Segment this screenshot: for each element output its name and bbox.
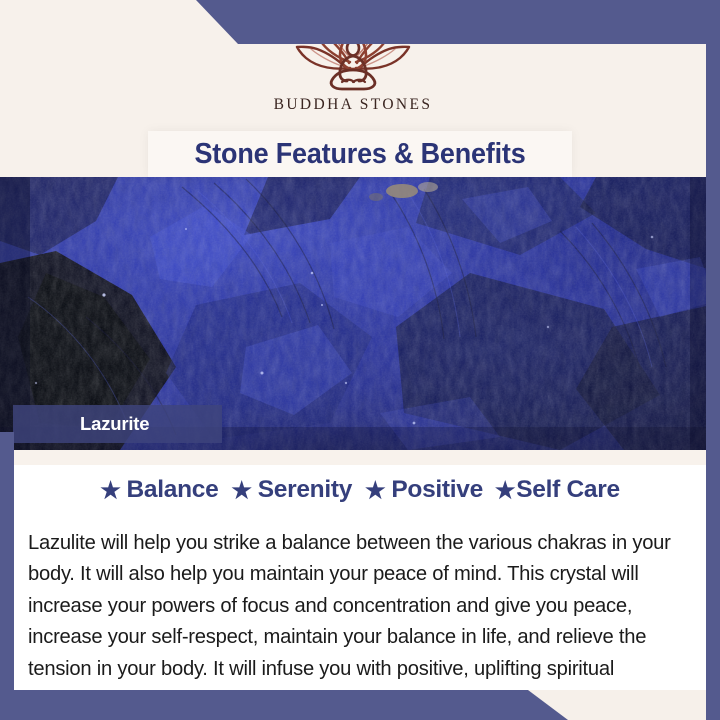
- frame-accent-right: [706, 0, 720, 720]
- page-title: Stone Features & Benefits: [194, 138, 525, 171]
- benefit-item: ★Self Care: [495, 476, 620, 504]
- benefit-item: ★Serenity: [231, 476, 352, 504]
- stone-name: Lazurite: [80, 413, 149, 435]
- benefit-label: Positive: [391, 476, 483, 503]
- panel-top-strip: [14, 450, 706, 465]
- benefit-label: Balance: [127, 476, 219, 503]
- stone-name-ribbon: Lazurite: [13, 405, 222, 443]
- content-panel: ★Balance ★Serenity ★Positive ★Self Care …: [14, 450, 706, 690]
- benefits-list: ★Balance ★Serenity ★Positive ★Self Care: [14, 476, 706, 504]
- benefit-item: ★Positive: [365, 476, 483, 504]
- brand-name: BUDDHA STONES: [0, 96, 706, 114]
- benefit-label: Self Care: [516, 476, 620, 503]
- star-icon: ★: [231, 477, 251, 504]
- benefit-item: ★Balance: [100, 476, 218, 504]
- stone-benefits-infographic: BUDDHA STONES: [0, 0, 720, 720]
- stone-description: Lazulite will help you strike a balance …: [28, 527, 686, 716]
- star-icon: ★: [100, 477, 120, 504]
- star-icon: ★: [495, 477, 515, 504]
- benefit-label: Serenity: [258, 476, 352, 503]
- page-title-band: Stone Features & Benefits: [148, 131, 572, 177]
- frame-accent-left: [0, 432, 14, 720]
- star-icon: ★: [365, 477, 385, 504]
